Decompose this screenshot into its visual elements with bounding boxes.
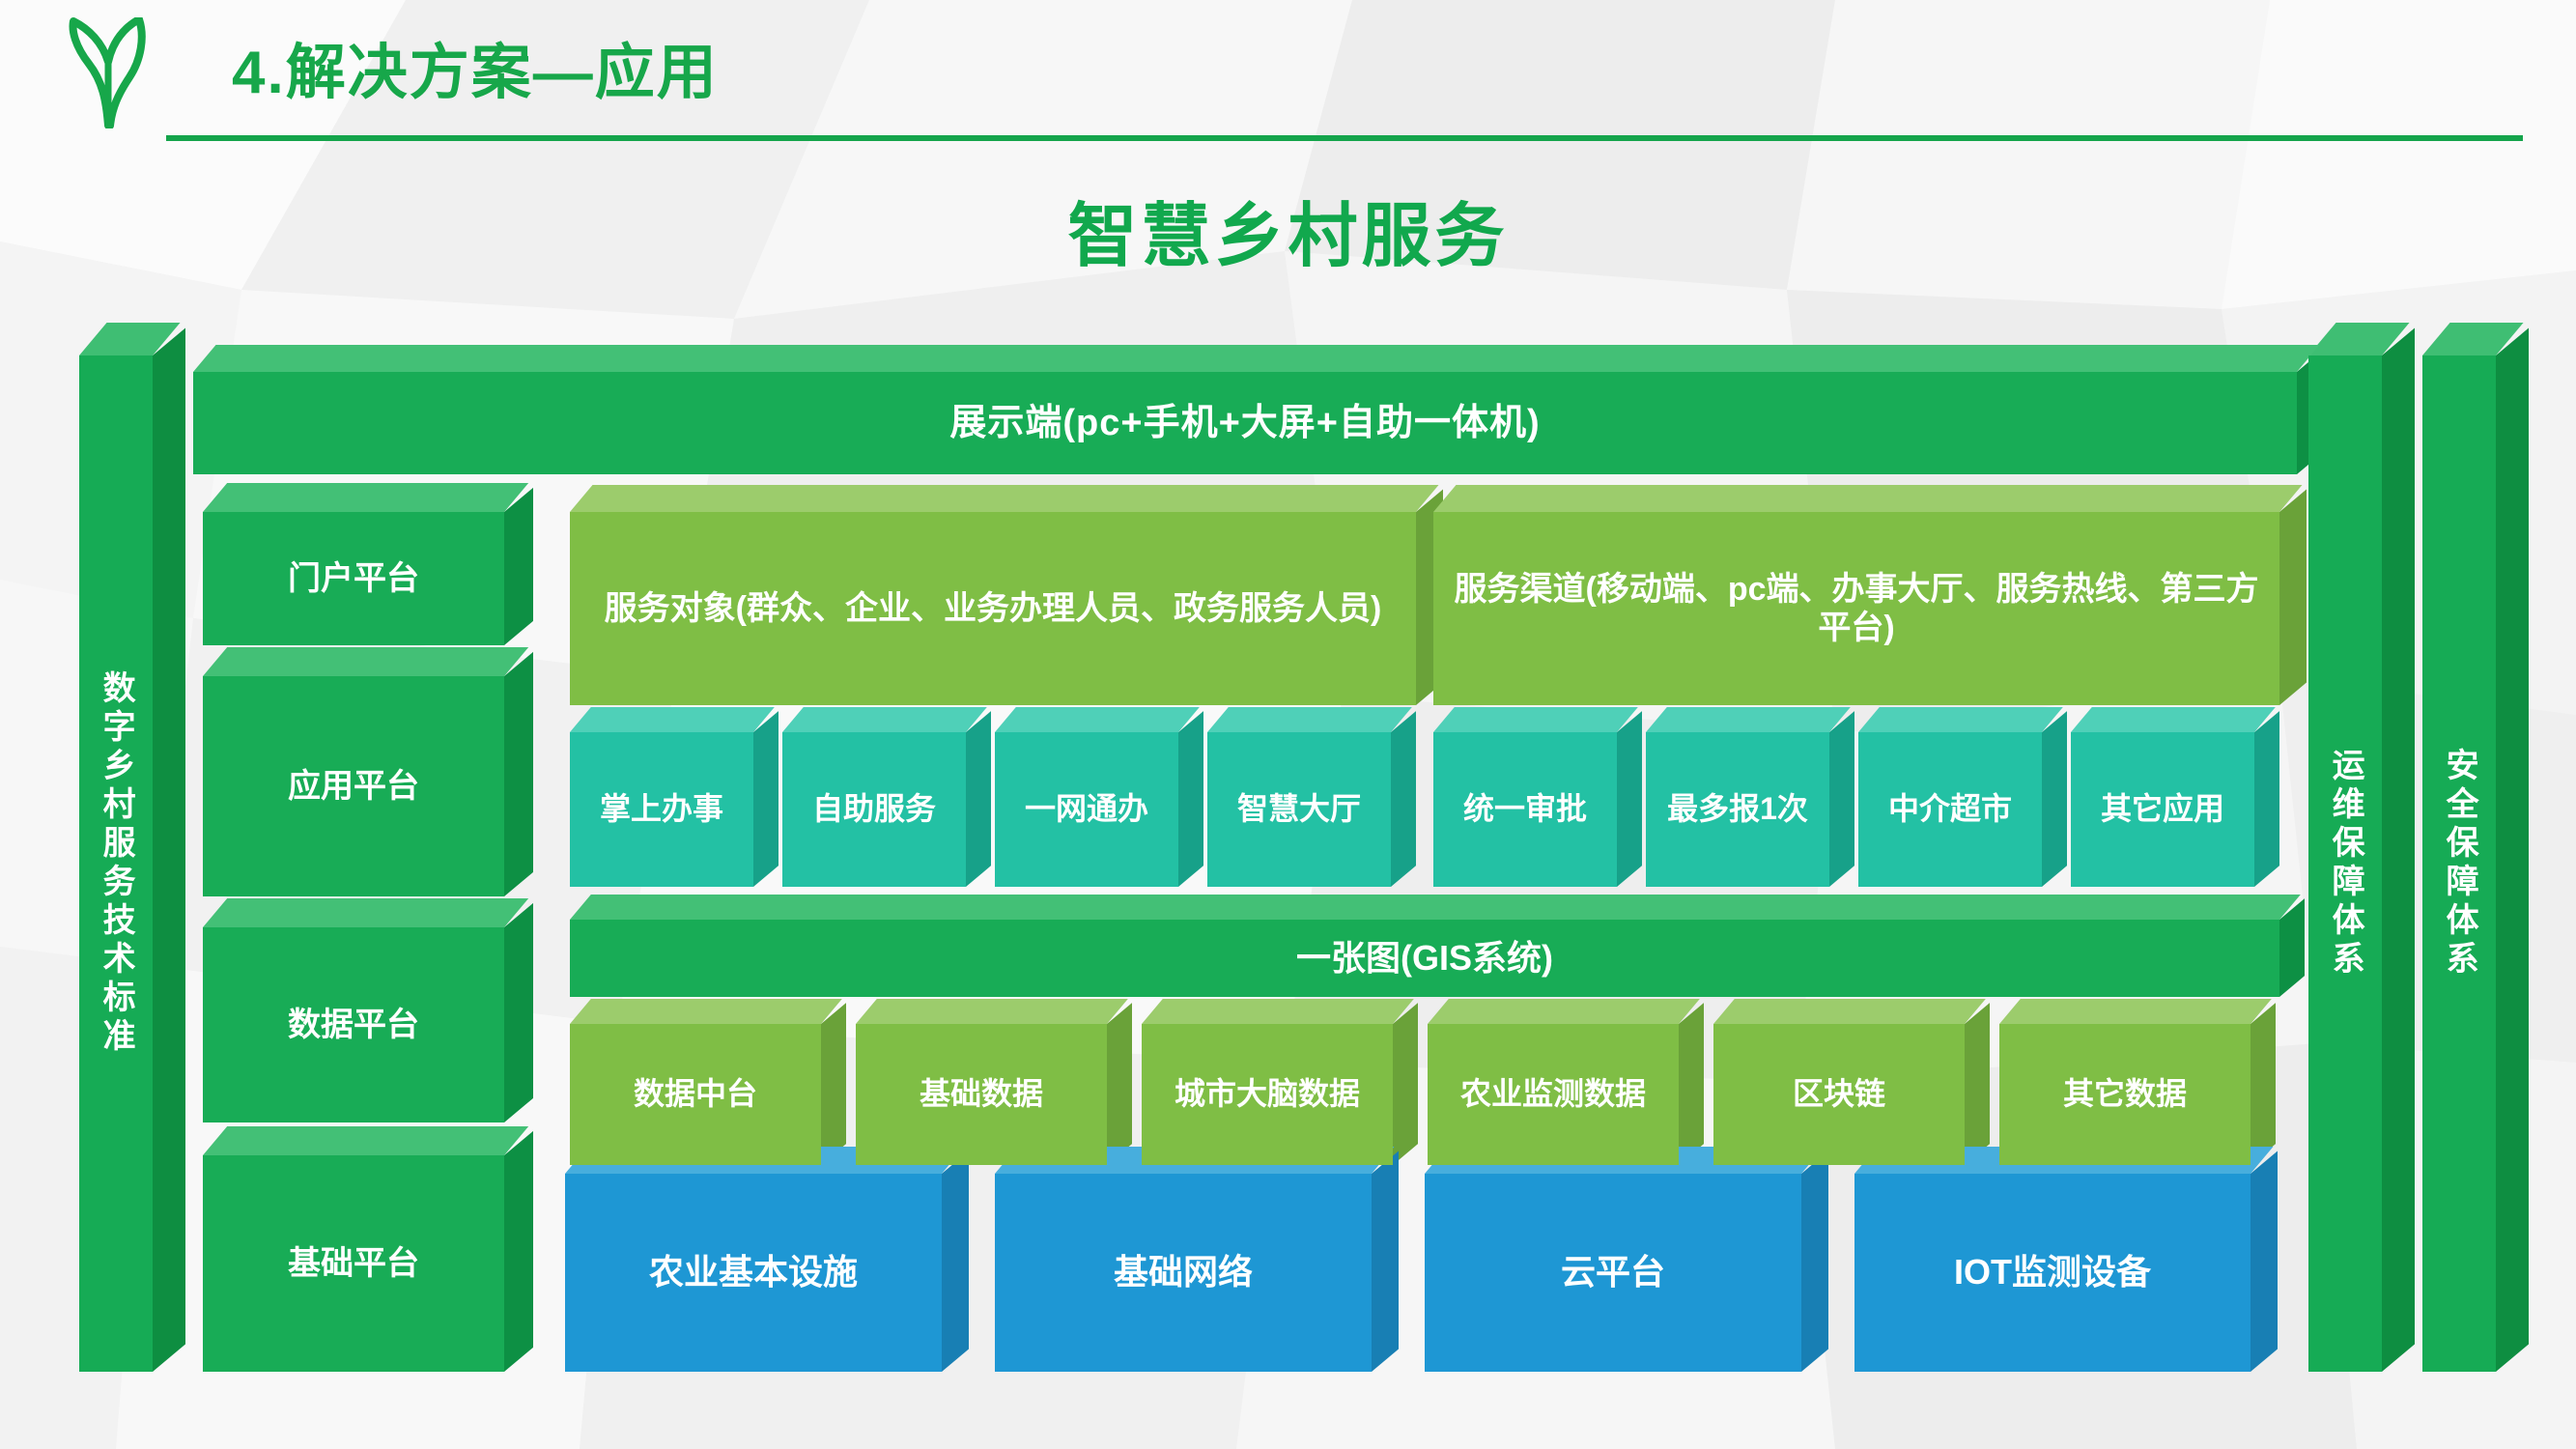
right-pillar-label: 安全保障体系 (2422, 355, 2496, 1372)
infra-box-label: IOT监测设备 (1854, 1174, 2250, 1372)
app-box-label: 掌上办事 (570, 732, 753, 887)
data-box-label: 城市大脑数据 (1142, 1024, 1393, 1165)
box-right-face (1829, 711, 1854, 887)
box-top-face (570, 999, 842, 1024)
right-pillar-operations[interactable]: 运维保障体系 (2308, 355, 2382, 1372)
data-box-label: 农业监测数据 (1428, 1024, 1679, 1165)
app-agency-market[interactable]: 中介超市 (1858, 732, 2042, 887)
app-one-network[interactable]: 一网通办 (995, 732, 1178, 887)
app-box-label: 统一审批 (1433, 732, 1617, 887)
tier-infrastructure-platform[interactable]: 基础平台 (203, 1155, 504, 1372)
portal-service-channels[interactable]: 服务渠道(移动端、pc端、办事大厅、服务热线、第三方平台) (1433, 512, 2279, 705)
box-top-face (2071, 707, 2276, 732)
box-top-face (1713, 999, 1986, 1024)
infra-iot-devices[interactable]: IOT监测设备 (1854, 1174, 2250, 1372)
display-layer-bar[interactable]: 展示端(pc+手机+大屏+自助一体机) (193, 372, 2297, 474)
data-box-label: 基础数据 (856, 1024, 1107, 1165)
box-right-face (1372, 1151, 1399, 1372)
tier-application-platform[interactable]: 应用平台 (203, 676, 504, 896)
box-top-face (1428, 999, 1700, 1024)
app-report-once[interactable]: 最多报1次 (1646, 732, 1829, 887)
box-right-face (966, 711, 991, 887)
box-top-face (570, 707, 775, 732)
box-top-face (203, 1126, 528, 1155)
box-top-face (203, 647, 528, 676)
app-box-label: 其它应用 (2071, 732, 2254, 887)
box-top-face (1207, 707, 1412, 732)
box-right-face (1965, 1003, 1990, 1165)
box-right-face (1679, 1003, 1704, 1165)
box-right-face (753, 711, 778, 887)
box-right-face (821, 1003, 846, 1165)
box-right-face (2250, 1151, 2278, 1372)
box-right-face (942, 1151, 969, 1372)
tier-label: 应用平台 (203, 676, 504, 896)
box-top-face (203, 898, 528, 927)
box-top-face (1999, 999, 2272, 1024)
header-divider (166, 135, 2523, 141)
page-header: 4.解决方案—应用 (0, 0, 2576, 155)
infra-box-label: 基础网络 (995, 1174, 1372, 1372)
box-right-face (1801, 1151, 1828, 1372)
display-layer-label: 展示端(pc+手机+大屏+自助一体机) (193, 372, 2297, 474)
data-blockchain[interactable]: 区块链 (1713, 1024, 1965, 1165)
infra-box-label: 云平台 (1425, 1174, 1801, 1372)
box-right-face (1617, 711, 1642, 887)
app-box-label: 智慧大厅 (1207, 732, 1391, 887)
box-right-face (2279, 490, 2307, 705)
right-pillar-label: 运维保障体系 (2308, 355, 2382, 1372)
box-top-face (203, 483, 528, 512)
box-right-face (2042, 711, 2067, 887)
app-box-label: 最多报1次 (1646, 732, 1829, 887)
data-box-label: 其它数据 (1999, 1024, 2250, 1165)
right-pillar-security[interactable]: 安全保障体系 (2422, 355, 2496, 1372)
tier-label: 基础平台 (203, 1155, 504, 1372)
box-top-face (995, 707, 1200, 732)
box-top-face (1433, 485, 2302, 512)
app-box-label: 自助服务 (782, 732, 966, 887)
left-pillar-label: 数字乡村服务技术标准 (79, 355, 153, 1372)
box-right-face (2250, 1003, 2276, 1165)
app-unified-approval[interactable]: 统一审批 (1433, 732, 1617, 887)
box-right-face (1178, 711, 1203, 887)
data-agriculture-monitoring[interactable]: 农业监测数据 (1428, 1024, 1679, 1165)
box-right-face (2496, 327, 2529, 1372)
infra-box-label: 农业基本设施 (565, 1174, 942, 1372)
box-right-face (504, 1131, 533, 1372)
tier-label: 门户平台 (203, 512, 504, 645)
diagram-title: 智慧乡村服务 (0, 179, 2576, 280)
page-title: 4.解决方案—应用 (232, 23, 719, 110)
data-other-data[interactable]: 其它数据 (1999, 1024, 2250, 1165)
app-mobile-handling[interactable]: 掌上办事 (570, 732, 753, 887)
box-top-face (1433, 707, 1638, 732)
leaf-icon (60, 17, 161, 128)
tier-portal-platform[interactable]: 门户平台 (203, 512, 504, 645)
app-self-service[interactable]: 自助服务 (782, 732, 966, 887)
box-top-face (570, 485, 1438, 512)
box-top-face (856, 999, 1128, 1024)
box-right-face (504, 488, 533, 645)
data-box-label: 数据中台 (570, 1024, 821, 1165)
box-right-face (2254, 711, 2279, 887)
box-right-face (504, 903, 533, 1122)
box-top-face (782, 707, 987, 732)
portal-box-label: 服务对象(群众、企业、业务办理人员、政务服务人员) (570, 512, 1416, 705)
box-right-face (153, 327, 185, 1372)
portal-service-targets[interactable]: 服务对象(群众、企业、业务办理人员、政务服务人员) (570, 512, 1416, 705)
app-box-label: 一网通办 (995, 732, 1178, 887)
app-smart-hall[interactable]: 智慧大厅 (1207, 732, 1391, 887)
portal-box-label: 服务渠道(移动端、pc端、办事大厅、服务热线、第三方平台) (1433, 512, 2279, 705)
tier-label: 数据平台 (203, 927, 504, 1122)
gis-layer-label: 一张图(GIS系统) (570, 920, 2279, 997)
data-middle-platform[interactable]: 数据中台 (570, 1024, 821, 1165)
box-top-face (1142, 999, 1414, 1024)
box-top-face (570, 895, 2301, 920)
box-top-face (1646, 707, 1851, 732)
infra-agriculture-facilities[interactable]: 农业基本设施 (565, 1174, 942, 1372)
app-box-label: 中介超市 (1858, 732, 2042, 887)
data-city-brain[interactable]: 城市大脑数据 (1142, 1024, 1393, 1165)
gis-layer-bar[interactable]: 一张图(GIS系统) (570, 920, 2279, 997)
data-basic-data[interactable]: 基础数据 (856, 1024, 1107, 1165)
box-right-face (1107, 1003, 1132, 1165)
box-right-face (1393, 1003, 1418, 1165)
box-right-face (504, 652, 533, 896)
box-top-face (193, 345, 2319, 372)
infra-basic-network[interactable]: 基础网络 (995, 1174, 1372, 1372)
box-top-face (1858, 707, 2063, 732)
tier-data-platform[interactable]: 数据平台 (203, 927, 504, 1122)
box-right-face (1391, 711, 1416, 887)
infra-cloud-platform[interactable]: 云平台 (1425, 1174, 1801, 1372)
app-other-applications[interactable]: 其它应用 (2071, 732, 2254, 887)
box-right-face (2382, 327, 2415, 1372)
data-box-label: 区块链 (1713, 1024, 1965, 1165)
left-pillar-standards[interactable]: 数字乡村服务技术标准 (79, 355, 153, 1372)
